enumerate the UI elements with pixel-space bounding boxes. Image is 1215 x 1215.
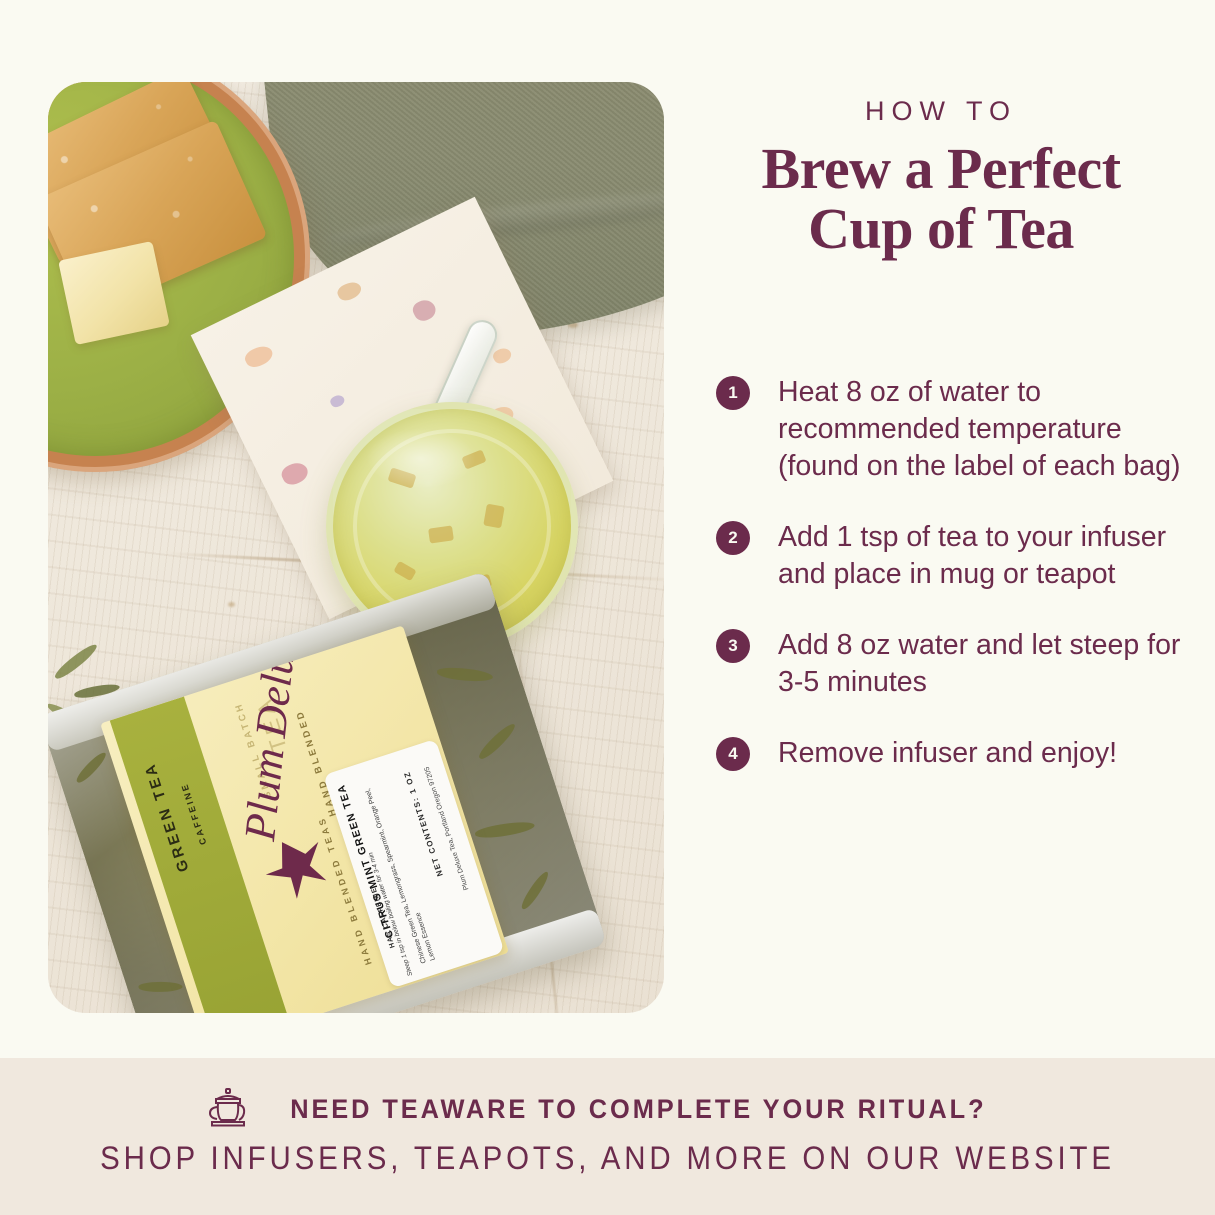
tea-leaf: [74, 749, 108, 785]
footer-line-1-row: NEED TEAWARE TO COMPLETE YOUR RITUAL?: [0, 1086, 1215, 1133]
step-text: Add 8 oz water and let steep for 3-5 min…: [778, 627, 1186, 701]
tea-leaf: [53, 641, 100, 683]
title-line-1: Brew a Perfect: [700, 139, 1182, 199]
footer-line-1: NEED TEAWARE TO COMPLETE YOUR RITUAL?: [290, 1094, 986, 1125]
step-number-badge: 2: [716, 521, 750, 555]
tea-leaf: [437, 667, 494, 683]
terrazzo-fleck: [279, 459, 311, 488]
kicker-text: HOW TO: [700, 96, 1182, 127]
title-line-2: Cup of Tea: [700, 199, 1182, 259]
hero-photo: GREEN TEA CAFFEINE HAND BLENDED SMALL BA…: [48, 82, 664, 1013]
footer-banner: NEED TEAWARE TO COMPLETE YOUR RITUAL? SH…: [0, 1058, 1215, 1215]
step-number-badge: 1: [716, 376, 750, 410]
terrazzo-fleck: [242, 342, 275, 370]
step-number-badge: 4: [716, 737, 750, 771]
step-text: Add 1 tsp of tea to your infuser and pla…: [778, 519, 1186, 593]
infographic-canvas: GREEN TEA CAFFEINE HAND BLENDED SMALL BA…: [0, 0, 1215, 1215]
terrazzo-fleck: [329, 393, 346, 409]
terrazzo-fleck: [335, 279, 364, 304]
tea-leaf-fleck: [483, 504, 505, 529]
steps-list: 1 Heat 8 oz of water to recommended temp…: [716, 374, 1186, 806]
page-title: Brew a Perfect Cup of Tea: [700, 139, 1182, 260]
step-number-badge: 3: [716, 629, 750, 663]
step-item: 1 Heat 8 oz of water to recommended temp…: [716, 374, 1186, 485]
terrazzo-fleck: [410, 296, 439, 324]
footer-line-2: SHOP INFUSERS, TEAPOTS, AND MORE ON OUR …: [49, 1140, 1167, 1177]
step-text: Heat 8 oz of water to recommended temper…: [778, 374, 1186, 485]
mug-highlight: [366, 428, 475, 489]
step-item: 4 Remove infuser and enjoy!: [716, 735, 1186, 772]
teapot-icon: [206, 1086, 250, 1133]
step-item: 2 Add 1 tsp of tea to your infuser and p…: [716, 519, 1186, 593]
step-item: 3 Add 8 oz water and let steep for 3-5 m…: [716, 627, 1186, 701]
header-block: HOW TO Brew a Perfect Cup of Tea: [700, 96, 1182, 260]
tea-leaf: [474, 819, 535, 841]
step-text: Remove infuser and enjoy!: [778, 735, 1117, 772]
tea-leaf: [519, 869, 551, 912]
tea-leaf: [477, 720, 518, 762]
tea-leaf: [138, 981, 182, 993]
wood-speck: [228, 602, 235, 607]
terrazzo-fleck: [491, 346, 513, 366]
